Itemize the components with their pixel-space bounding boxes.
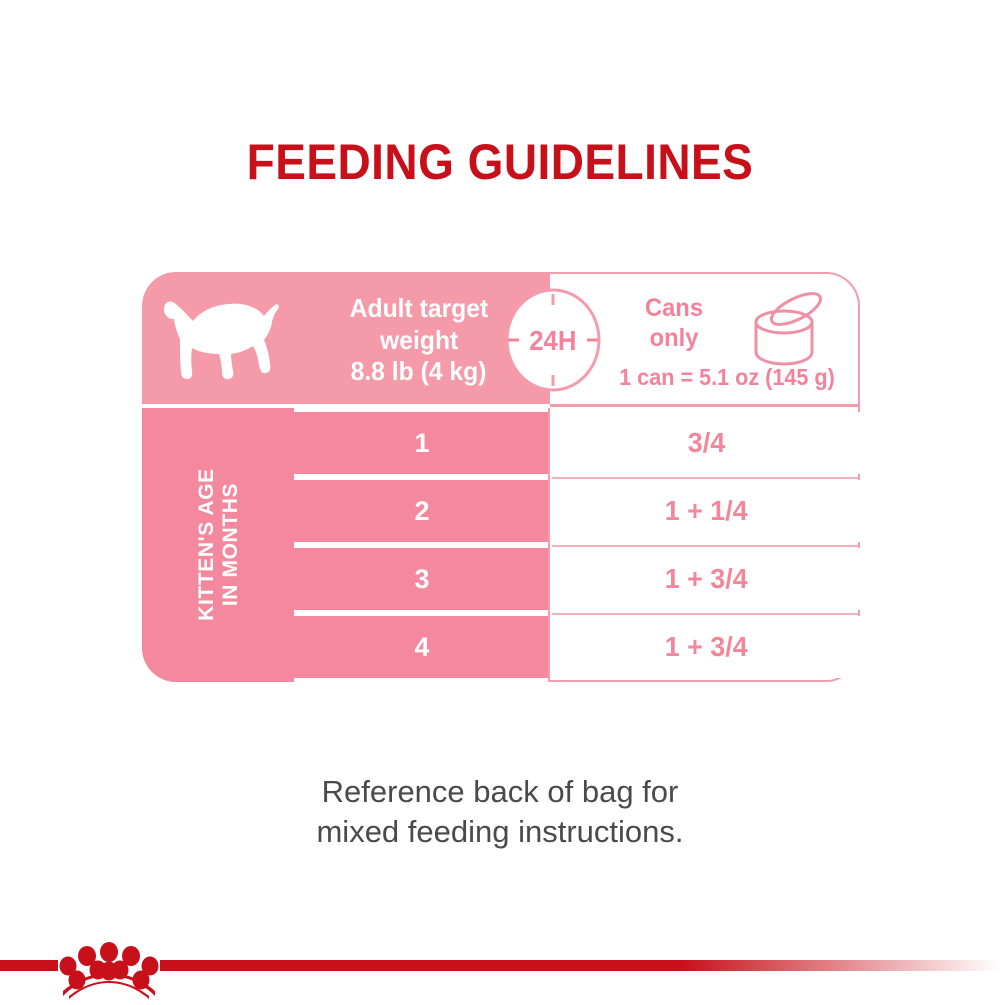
table-row: 2 1 + 1/4: [294, 480, 860, 542]
cell-amount-text: 1 + 1/4: [665, 495, 748, 527]
weight-line-3: 8.8 lb (4 kg): [351, 356, 487, 388]
cell-amount: 1 + 1/4: [550, 480, 860, 542]
row-divider: [552, 545, 858, 547]
cell-month: 2: [294, 480, 550, 542]
feeding-guidelines-table: Adult target weight 8.8 lb (4 kg) 24H Ca…: [142, 272, 860, 682]
cell-amount: 3/4: [550, 412, 860, 474]
table-row: 3 1 + 3/4: [294, 548, 860, 610]
page-title: FEEDING GUIDELINES: [40, 133, 960, 191]
cell-amount-text: 3/4: [687, 427, 724, 459]
cans-line-1: Cans: [608, 294, 741, 324]
cell-amount-text: 1 + 3/4: [665, 563, 748, 595]
column-divider: [548, 408, 550, 682]
cans-only-header: Cans only 1 can = 5.1 oz (145 g): [604, 286, 854, 398]
header-separator: [550, 404, 860, 407]
24h-clock-icon: 24H: [505, 288, 601, 392]
cans-only-label: Cans only: [604, 294, 744, 353]
row-divider: [552, 477, 858, 479]
caption-line-2: mixed feeding instructions.: [0, 812, 1000, 852]
cans-line-2: only: [608, 324, 741, 354]
table-row: 1 3/4: [294, 412, 860, 474]
cell-month: 4: [294, 616, 550, 678]
row-divider: [552, 613, 858, 615]
footer-rule-right: [160, 960, 1000, 971]
weight-line-2: weight: [380, 325, 458, 357]
footer-rule-left: [0, 960, 58, 971]
cell-amount: 1 + 3/4: [550, 548, 860, 610]
footer-caption: Reference back of bag for mixed feeding …: [0, 772, 1000, 851]
kitten-silhouette-icon: [150, 286, 290, 396]
caption-line-1: Reference back of bag for: [0, 772, 1000, 812]
royal-canin-crown-logo: [57, 942, 161, 1005]
can-equivalence-label: 1 can = 5.1 oz (145 g): [606, 364, 849, 391]
open-can-icon: [742, 290, 834, 375]
cell-amount-text: 1 + 3/4: [665, 631, 748, 663]
table-side-label-column: [142, 408, 294, 682]
cell-month: 1: [294, 412, 550, 474]
weight-line-1: Adult target: [350, 293, 489, 325]
table-row: 4 1 + 3/4: [294, 616, 860, 678]
cell-amount: 1 + 3/4: [550, 616, 860, 678]
cell-month: 3: [294, 548, 550, 610]
brand-footer-band: [0, 928, 1000, 1000]
svg-text:24H: 24H: [529, 325, 576, 356]
